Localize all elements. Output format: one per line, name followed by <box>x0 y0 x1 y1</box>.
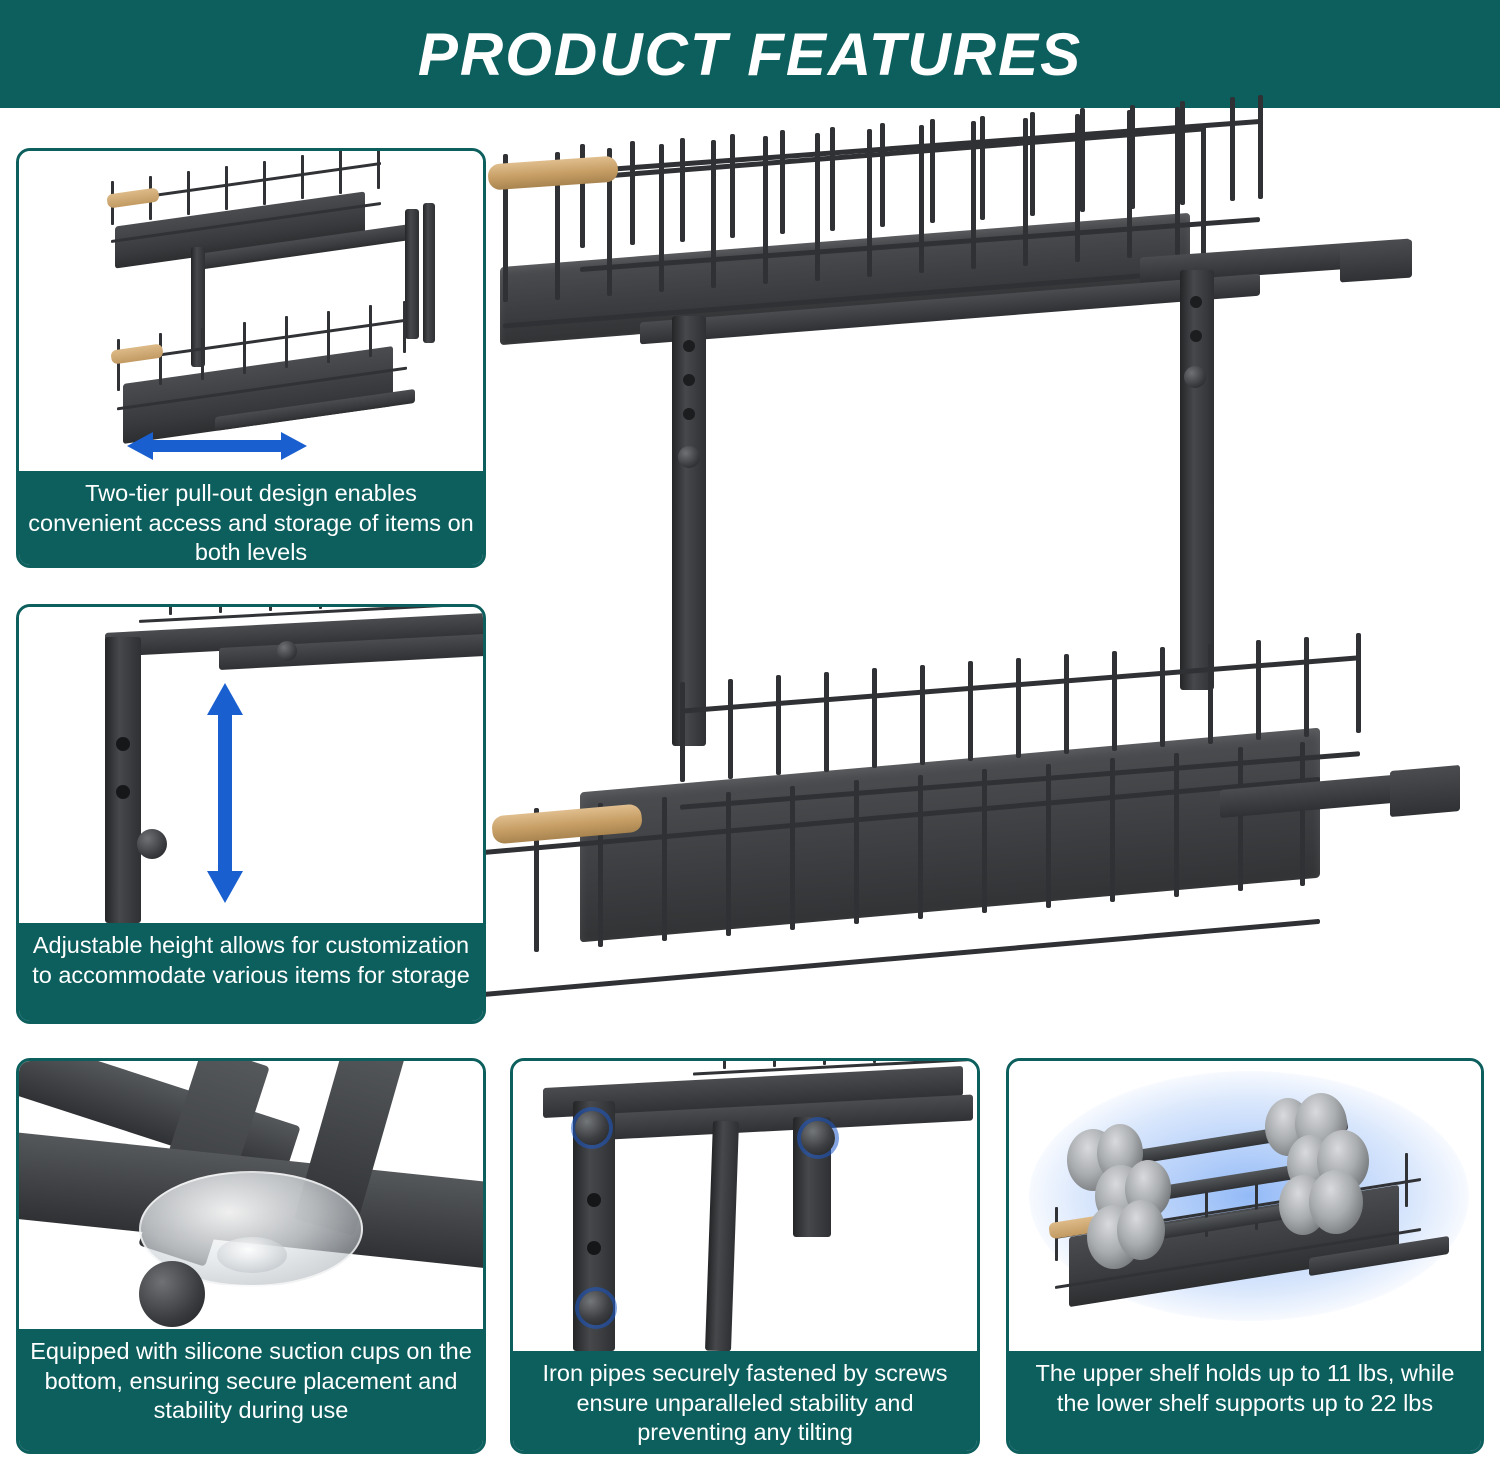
two-tier-illustration <box>19 151 483 471</box>
left-post-adjust-knob[interactable] <box>678 446 700 468</box>
hero-product-image <box>440 120 1500 1040</box>
capacity-illustration <box>1009 1061 1481 1351</box>
suction-cup-illustration <box>19 1061 483 1329</box>
screw-head-top-right <box>801 1121 835 1155</box>
feature-card-two-tier: Two-tier pull-out design enables conveni… <box>16 148 486 568</box>
feature-card-screws: Iron pipes securely fastened by screws e… <box>510 1058 980 1454</box>
screw-fastening-illustration <box>513 1061 977 1351</box>
suction-caption: Equipped with silicone suction cups on t… <box>19 1329 483 1451</box>
horizontal-double-arrow-icon <box>127 429 307 463</box>
dumbbell-row-front <box>1065 1157 1465 1287</box>
product-features-page: PRODUCT FEATURES <box>0 0 1500 1468</box>
header-banner: PRODUCT FEATURES <box>0 0 1500 108</box>
adjustable-caption: Adjustable height allows for customizati… <box>19 923 483 1021</box>
screw-head-top-left <box>575 1111 609 1145</box>
adjustable-post <box>105 637 141 923</box>
feature-card-suction: Equipped with silicone suction cups on t… <box>16 1058 486 1454</box>
screw-head-bottom <box>579 1291 613 1325</box>
frame-bolt-knob <box>139 1261 205 1327</box>
feature-card-adjustable: Adjustable height allows for customizati… <box>16 604 486 1024</box>
feature-card-capacity: The upper shelf holds up to 11 lbs, whil… <box>1006 1058 1484 1454</box>
capacity-caption: The upper shelf holds up to 11 lbs, whil… <box>1009 1351 1481 1451</box>
vertical-double-arrow-icon <box>205 683 245 903</box>
lower-slide-rail-end <box>1390 765 1460 817</box>
upper-slide-rail-end <box>1340 239 1412 282</box>
right-post-adjust-knob[interactable] <box>1184 366 1206 388</box>
adjustable-illustration <box>19 607 483 923</box>
screws-caption: Iron pipes securely fastened by screws e… <box>513 1351 977 1451</box>
adjustable-post-knob[interactable] <box>137 829 167 859</box>
right-post-holes <box>1190 296 1204 416</box>
left-post-holes <box>683 340 697 460</box>
page-title: PRODUCT FEATURES <box>418 20 1082 89</box>
two-tier-caption: Two-tier pull-out design enables conveni… <box>19 471 483 565</box>
